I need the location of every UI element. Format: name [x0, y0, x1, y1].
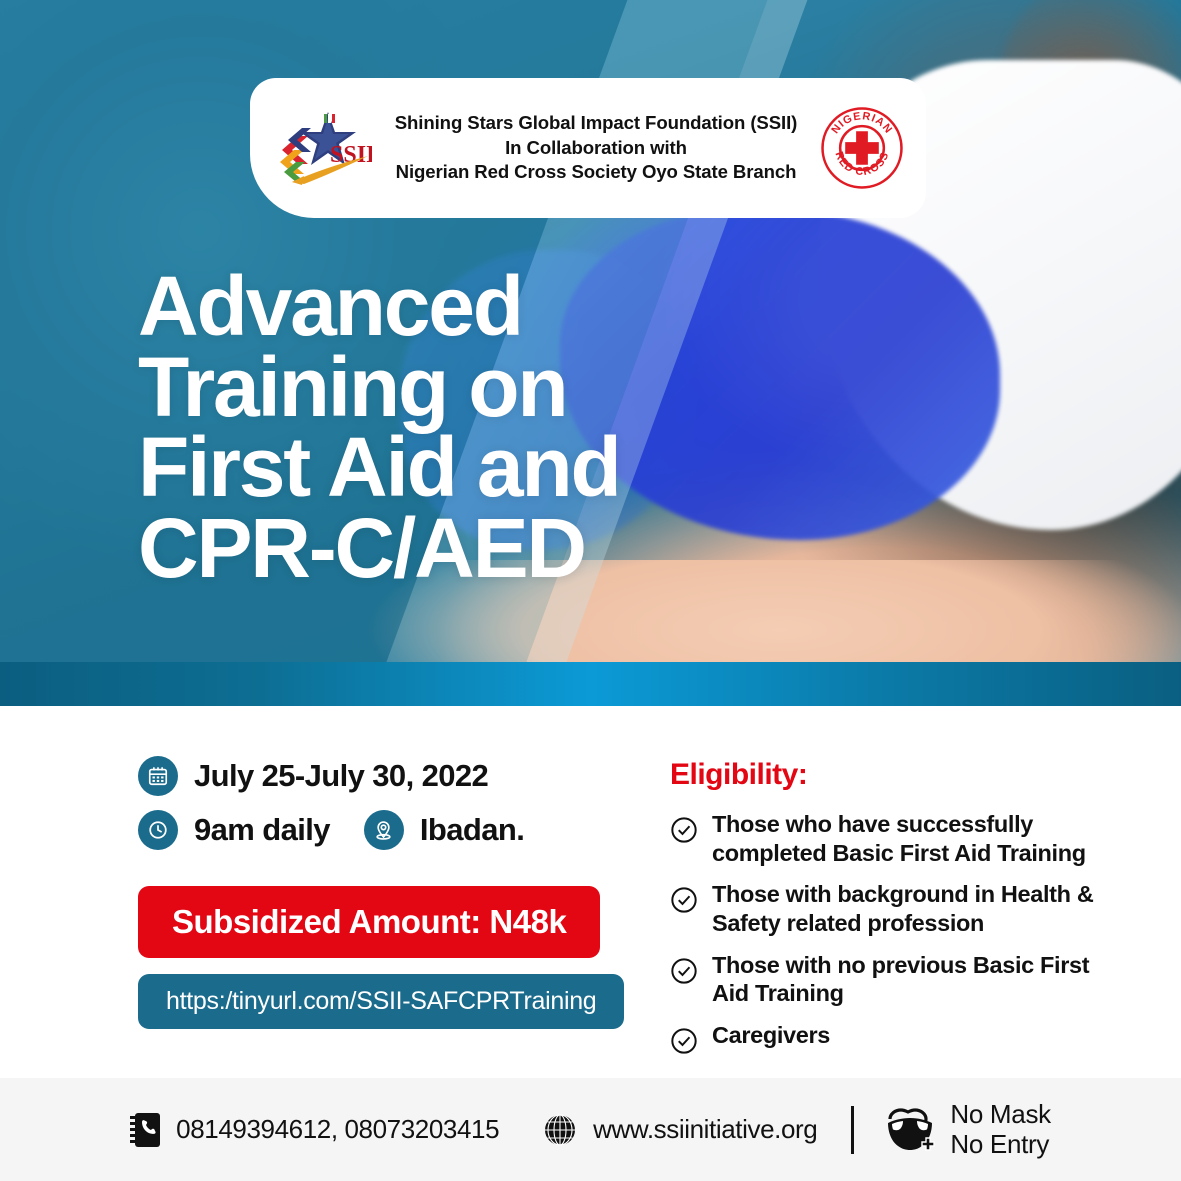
page-title: Advanced Training on First Aid and CPR-C… — [138, 266, 620, 589]
list-item: Those with no previous Basic First Aid T… — [670, 951, 1100, 1008]
mask-policy: No Mask No Entry — [882, 1100, 1050, 1158]
check-circle-icon — [670, 816, 698, 844]
eligibility-item-text: Those with no previous Basic First Aid T… — [712, 951, 1100, 1008]
phone-book-icon — [130, 1112, 160, 1148]
footer-bar: 08149394612, 08073203415 www.ssiinitiati — [0, 1078, 1181, 1181]
footer-divider — [851, 1106, 854, 1154]
mask-line-2: No Entry — [950, 1130, 1050, 1159]
calendar-icon — [138, 756, 178, 796]
check-circle-icon — [670, 957, 698, 985]
website-text[interactable]: www.ssiinitiative.org — [593, 1114, 817, 1145]
price-badge: Subsidized Amount: N48k — [138, 886, 600, 958]
list-item: Those with background in Health & Safety… — [670, 880, 1100, 937]
event-time-text: 9am daily — [194, 812, 330, 848]
eligibility-item-text: Caregivers — [712, 1021, 830, 1050]
title-line-4: CPR-C/AED — [138, 508, 620, 589]
phone-numbers-text: 08149394612, 08073203415 — [176, 1114, 499, 1145]
list-item: Those who have successfully completed Ba… — [670, 810, 1100, 867]
title-line-2: Training on — [138, 347, 620, 428]
content-area: July 25-July 30, 2022 9am daily Ibadan. … — [0, 706, 1181, 1078]
eligibility-item-text: Those who have successfully completed Ba… — [712, 810, 1100, 867]
org-line-2: In Collaboration with — [378, 136, 814, 161]
section-divider-strip — [0, 662, 1181, 706]
location-pin-icon — [364, 810, 404, 850]
event-location-text: Ibadan. — [420, 812, 524, 848]
event-time-location-row: 9am daily Ibadan. — [138, 810, 638, 850]
event-date-row: July 25-July 30, 2022 — [138, 756, 638, 796]
ssii-logo-icon: SSII — [278, 110, 372, 186]
phone-contact: 08149394612, 08073203415 — [130, 1112, 499, 1148]
check-circle-icon — [670, 1027, 698, 1055]
website-contact: www.ssiinitiative.org — [499, 1113, 817, 1147]
nigerian-red-cross-logo-icon: NIGERIAN RED CROSS — [820, 106, 904, 190]
event-details-column: July 25-July 30, 2022 9am daily Ibadan. … — [138, 756, 638, 1029]
organization-names: Shining Stars Global Impact Foundation (… — [372, 111, 820, 185]
eligibility-heading: Eligibility: — [670, 758, 1100, 792]
title-line-1: Advanced — [138, 266, 620, 347]
organization-header-card: SSII Shining Stars Global Impact Foundat… — [250, 78, 926, 218]
clock-icon — [138, 810, 178, 850]
title-line-3: First Aid and — [138, 427, 620, 508]
org-line-1: Shining Stars Global Impact Foundation (… — [378, 111, 814, 136]
eligibility-column: Eligibility: Those who have successfully… — [670, 758, 1100, 1068]
svg-text:SSII: SSII — [330, 142, 372, 168]
face-mask-icon — [882, 1105, 938, 1155]
check-circle-icon — [670, 886, 698, 914]
eligibility-item-text: Those with background in Health & Safety… — [712, 880, 1100, 937]
registration-link-button[interactable]: https:/tinyurl.com/SSII-SAFCPRTraining — [138, 974, 624, 1029]
mask-line-1: No Mask — [950, 1100, 1050, 1129]
event-date-text: July 25-July 30, 2022 — [194, 758, 488, 794]
list-item: Caregivers — [670, 1021, 1100, 1055]
globe-icon — [543, 1113, 577, 1147]
org-line-3: Nigerian Red Cross Society Oyo State Bra… — [378, 160, 814, 185]
mask-policy-text: No Mask No Entry — [950, 1100, 1050, 1158]
